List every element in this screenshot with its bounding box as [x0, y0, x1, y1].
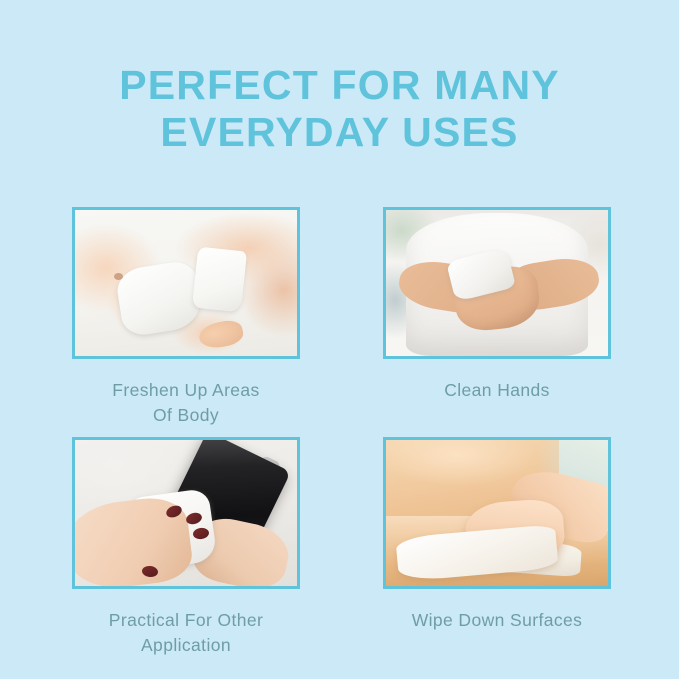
wipe-shape	[192, 247, 247, 313]
use-case-caption: Clean Hands	[383, 378, 611, 403]
cleaning-smartphone-photo	[75, 440, 297, 586]
use-case-tile-freshen-up-areas-of-body: Freshen Up Areas Of Body	[72, 207, 300, 428]
page-title-line-2: EVERYDAY USES	[0, 109, 679, 156]
use-case-caption: Freshen Up Areas Of Body	[72, 378, 300, 428]
use-case-tile-wipe-down-surfaces: Wipe Down Surfaces	[383, 437, 611, 633]
baby-diaper-change-photo	[75, 210, 297, 356]
use-case-caption: Practical For Other Application	[72, 608, 300, 658]
photo-frame	[72, 437, 300, 589]
photo-frame	[72, 207, 300, 359]
hands-wiping-with-wipe-photo	[386, 210, 608, 356]
page-title: PERFECT FOR MANY EVERYDAY USES	[0, 62, 679, 156]
navel-shape	[114, 273, 123, 280]
page-title-line-1: PERFECT FOR MANY	[0, 62, 679, 109]
baby-foot-shape	[197, 318, 246, 351]
photo-frame	[383, 437, 611, 589]
product-feature-poster: PERFECT FOR MANY EVERYDAY USES Freshen U…	[0, 0, 679, 679]
use-case-caption: Wipe Down Surfaces	[383, 608, 611, 633]
wiping-wooden-table-photo	[386, 440, 608, 586]
use-case-tile-practical-for-other-application: Practical For Other Application	[72, 437, 300, 658]
photo-frame	[383, 207, 611, 359]
diaper-shape	[115, 260, 204, 339]
use-case-tile-clean-hands: Clean Hands	[383, 207, 611, 403]
